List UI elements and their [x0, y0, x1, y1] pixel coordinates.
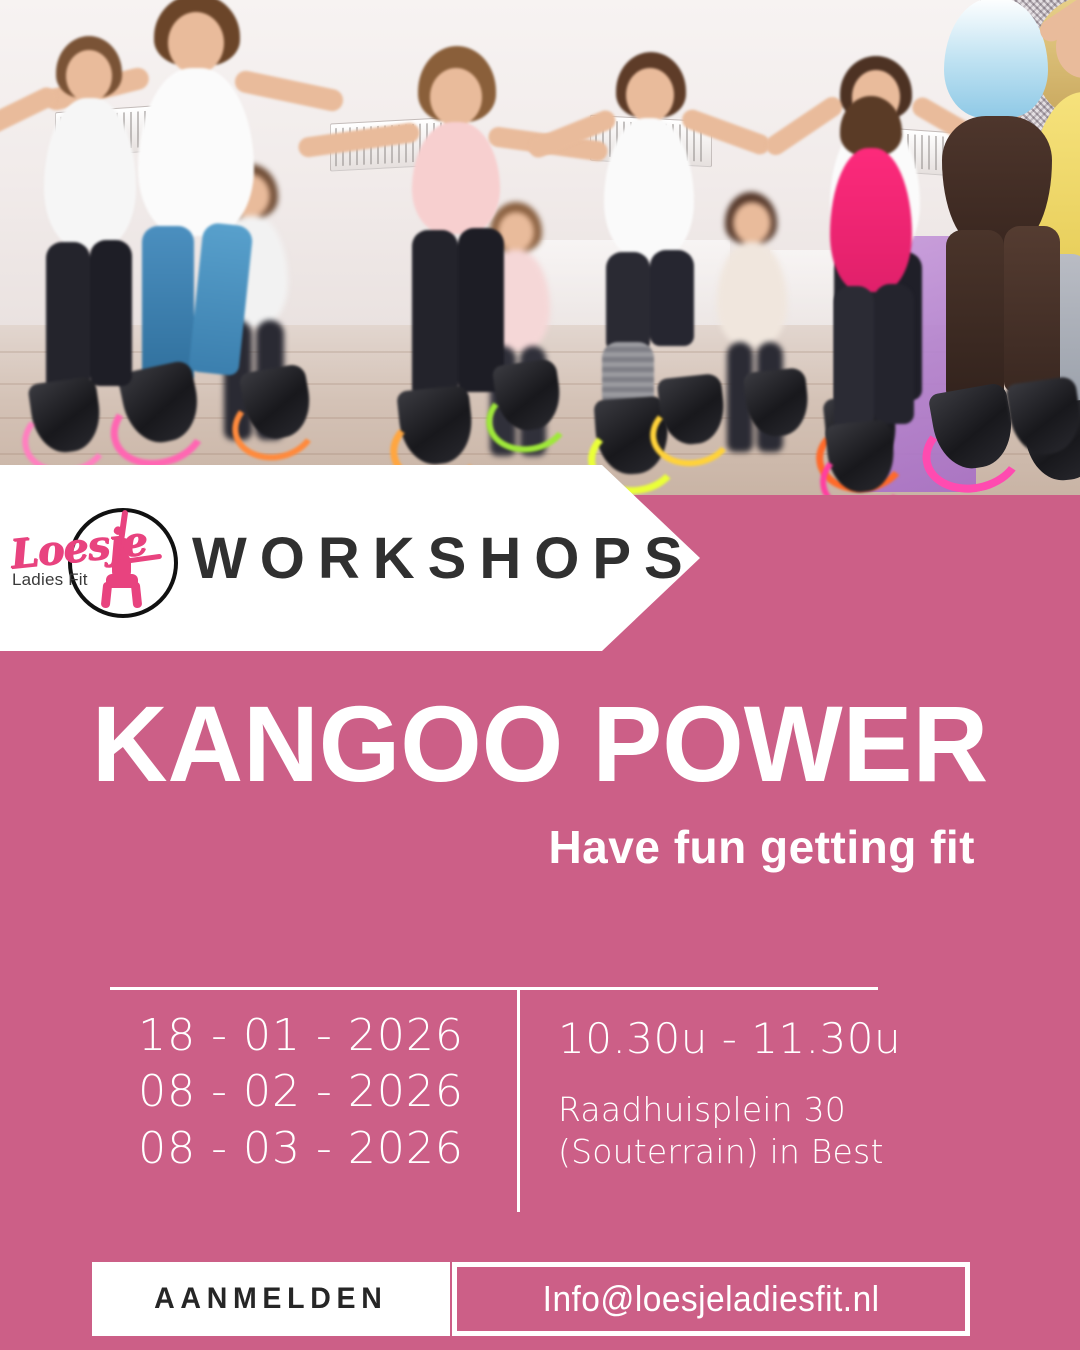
signup-label: AANMELDEN: [154, 1282, 387, 1316]
headline-block: KANGOO POWER Have fun getting fit: [0, 690, 1080, 874]
date-item: 18 - 01 - 2026: [110, 1008, 492, 1064]
date-item: 08 - 03 - 2026: [110, 1121, 492, 1177]
address-line-2: (Souterrain) in Best: [558, 1131, 978, 1173]
banner-title: WORKSHOPS!: [192, 525, 728, 592]
logo-tagline: Ladies Fit: [12, 570, 88, 590]
hero-photo: [0, 0, 1080, 495]
address-line-1: Raadhuisplein 30: [558, 1089, 978, 1131]
divider-vertical: [517, 990, 520, 1212]
brand-logo: Loesje Ladies Fit: [6, 498, 176, 618]
workshops-banner: Loesje Ladies Fit WORKSHOPS!: [0, 465, 700, 651]
contact-email-label: Info@loesjeladiesfit.nl: [543, 1278, 880, 1320]
person-foreground: [20, 36, 170, 466]
divider-horizontal: [110, 987, 878, 990]
page-title: KANGOO POWER: [16, 690, 1064, 798]
dates-list: 18 - 01 - 2026 08 - 02 - 2026 08 - 03 - …: [110, 1008, 492, 1177]
cta-row: AANMELDEN Info@loesjeladiesfit.nl: [92, 1262, 970, 1336]
date-item: 08 - 02 - 2026: [110, 1064, 492, 1120]
time-and-location: 10.30u - 11.30u Raadhuisplein 30 (Souter…: [558, 1014, 978, 1172]
time-range: 10.30u - 11.30u: [558, 1014, 978, 1063]
poster-canvas: Loesje Ladies Fit WORKSHOPS! KANGOO POWE…: [0, 0, 1080, 1350]
address-block: Raadhuisplein 30 (Souterrain) in Best: [558, 1089, 978, 1172]
contact-email-button[interactable]: Info@loesjeladiesfit.nl: [452, 1262, 970, 1336]
page-subtitle: Have fun getting fit: [0, 820, 1080, 874]
signup-button[interactable]: AANMELDEN: [92, 1262, 450, 1336]
